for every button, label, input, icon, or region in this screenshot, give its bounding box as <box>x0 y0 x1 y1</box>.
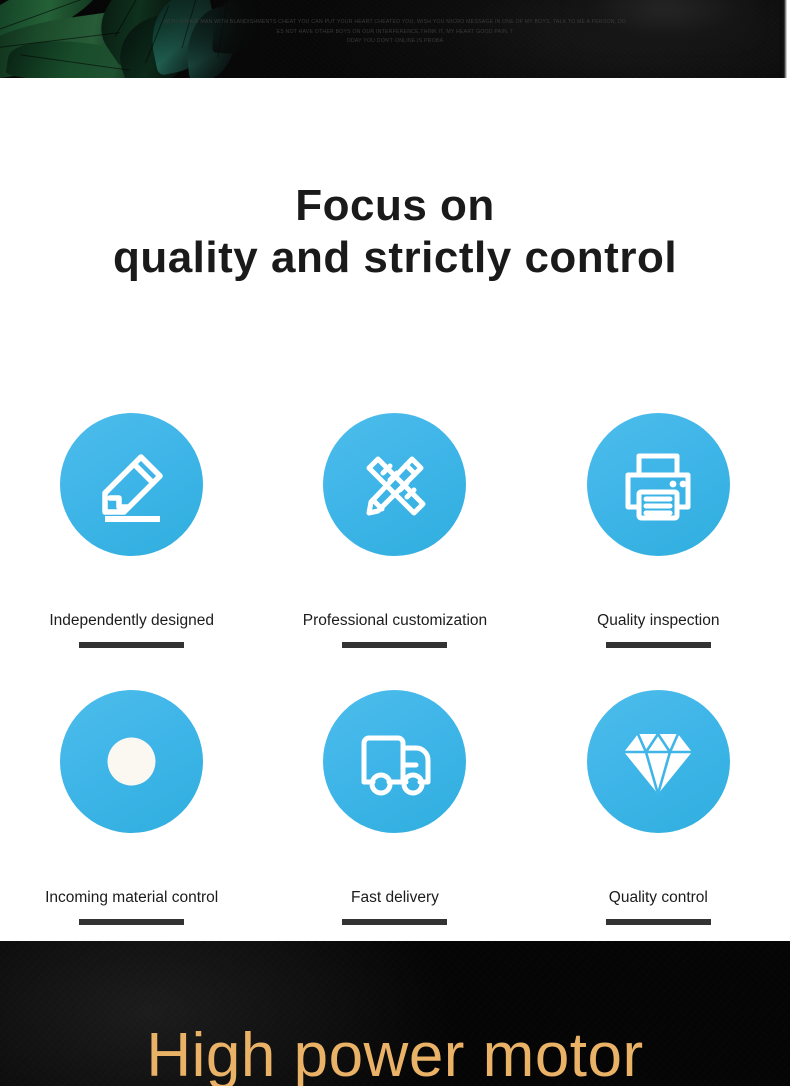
feature-label: Independently designed <box>49 612 214 630</box>
printer-icon <box>615 445 701 525</box>
feature-underline-bar <box>79 919 184 925</box>
feature-item-independently-designed: Independently designed <box>0 413 263 648</box>
feature-grid: Independently designed <box>0 413 790 925</box>
feature-underline-bar <box>342 919 447 925</box>
feature-label: Fast delivery <box>351 889 439 907</box>
page-title-line-1: Focus on <box>0 180 790 232</box>
pencil-draw-icon <box>91 444 173 526</box>
feature-item-professional-customization: Professional customization <box>263 413 526 648</box>
feature-icon-circle <box>60 413 203 556</box>
feature-icon-circle <box>587 413 730 556</box>
feature-label: Professional customization <box>303 612 487 630</box>
page-title: Focus on quality and strictly control <box>0 180 790 284</box>
feature-item-fast-delivery: Fast delivery <box>263 690 526 925</box>
feature-underline-bar <box>79 642 184 648</box>
feature-label: Quality inspection <box>597 612 719 630</box>
feature-underline-bar <box>606 642 711 648</box>
top-decorative-banner: WITH OTHER MAN WITH BLANDISHMENTS CHEAT … <box>0 0 790 78</box>
page-title-line-2: quality and strictly control <box>0 232 790 284</box>
feature-item-quality-inspection: Quality inspection <box>527 413 790 648</box>
pencil-ruler-cross-icon <box>353 443 437 527</box>
feature-icon-circle <box>323 690 466 833</box>
delivery-truck-icon <box>352 724 438 800</box>
ring-donut-icon <box>60 690 203 833</box>
feature-icon-circle <box>60 690 203 833</box>
banner-text-line-3: ODAY YOU DON'T ONLINE.IS PROBA <box>0 37 790 47</box>
product-detail-page: WITH OTHER MAN WITH BLANDISHMENTS CHEAT … <box>0 0 790 1086</box>
feature-row: Independently designed <box>0 413 790 648</box>
banner-right-edge <box>780 0 790 78</box>
feature-underline-bar <box>606 919 711 925</box>
bottom-banner-title: High power motor <box>0 1023 790 1086</box>
feature-row: Incoming material control <box>0 690 790 925</box>
banner-overlay-text: WITH OTHER MAN WITH BLANDISHMENTS CHEAT … <box>0 18 790 47</box>
feature-label: Incoming material control <box>45 889 218 907</box>
feature-icon-circle <box>587 690 730 833</box>
feature-icon-circle <box>323 413 466 556</box>
banner-text-line-1: WITH OTHER MAN WITH BLANDISHMENTS CHEAT … <box>0 18 790 28</box>
feature-item-incoming-material-control: Incoming material control <box>0 690 263 925</box>
feature-item-quality-control: Quality control <box>527 690 790 925</box>
diamond-gem-icon <box>614 724 702 800</box>
feature-label: Quality control <box>609 889 708 907</box>
banner-text-line-2: ES NOT HAVE OTHER BOYS ON OUR INTERFEREN… <box>0 28 790 38</box>
feature-underline-bar <box>342 642 447 648</box>
